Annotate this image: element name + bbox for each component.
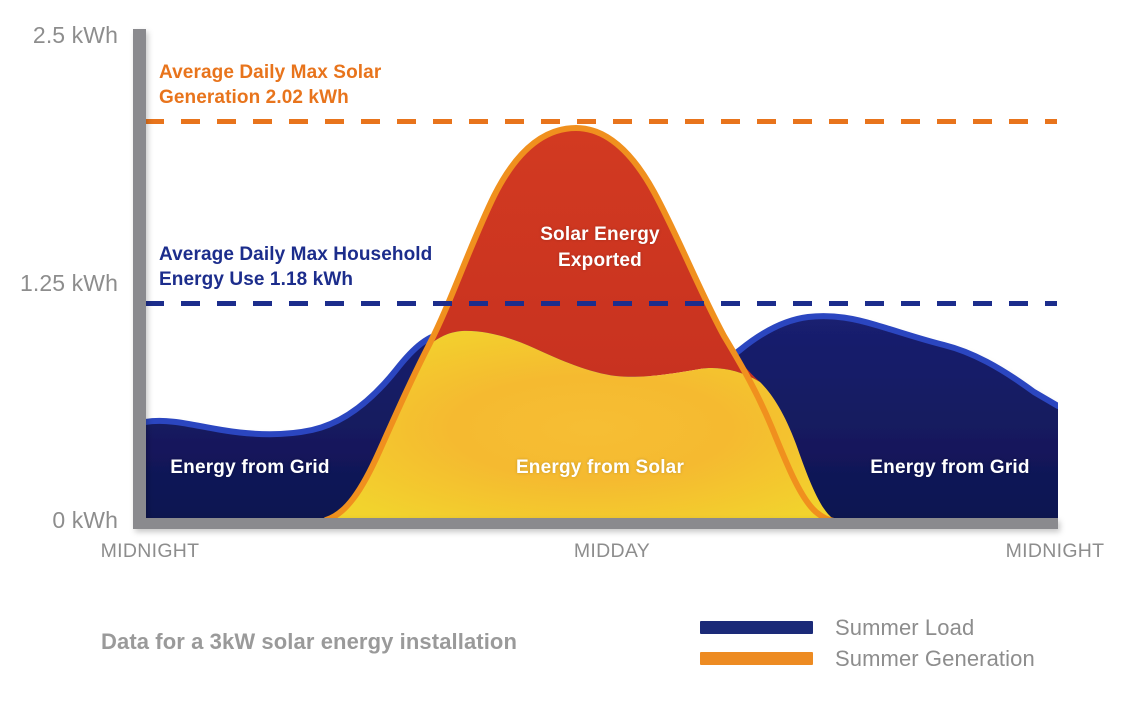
y-tick-label-2.5: 2.5 kWh [0, 22, 118, 49]
label-energy-from-solar: Energy from Solar [495, 455, 705, 481]
household-max-annotation: Average Daily Max Household Energy Use 1… [159, 242, 432, 292]
y-axis-bar [133, 29, 146, 518]
x-axis-bar [133, 518, 1058, 529]
y-tick-label-0: 0 kWh [0, 507, 118, 534]
chart-caption: Data for a 3kW solar energy installation [101, 629, 517, 655]
x-tick-label-midnight-left: MIDNIGHT [60, 540, 240, 563]
label-solar-energy-exported: Solar Energy Exported [495, 222, 705, 274]
x-tick-label-midnight-right: MIDNIGHT [965, 540, 1139, 563]
solar-energy-chart: 2.5 kWh 1.25 kWh 0 kWh MIDNIGHT MIDDAY M… [0, 0, 1139, 703]
legend-swatch-summer-load [700, 621, 813, 634]
x-tick-label-midday: MIDDAY [522, 540, 702, 563]
legend-label-summer-load: Summer Load [835, 615, 974, 641]
y-tick-label-1.25: 1.25 kWh [0, 270, 118, 297]
legend-swatch-summer-generation [700, 652, 813, 665]
legend-item-summer-load: Summer Load [700, 612, 1035, 643]
solar-max-annotation: Average Daily Max Solar Generation 2.02 … [159, 60, 381, 110]
label-energy-from-grid-evening: Energy from Grid [845, 455, 1055, 481]
chart-legend: Summer Load Summer Generation [700, 612, 1035, 674]
legend-label-summer-generation: Summer Generation [835, 646, 1035, 672]
legend-item-summer-generation: Summer Generation [700, 643, 1035, 674]
label-energy-from-grid-morning: Energy from Grid [145, 455, 355, 481]
